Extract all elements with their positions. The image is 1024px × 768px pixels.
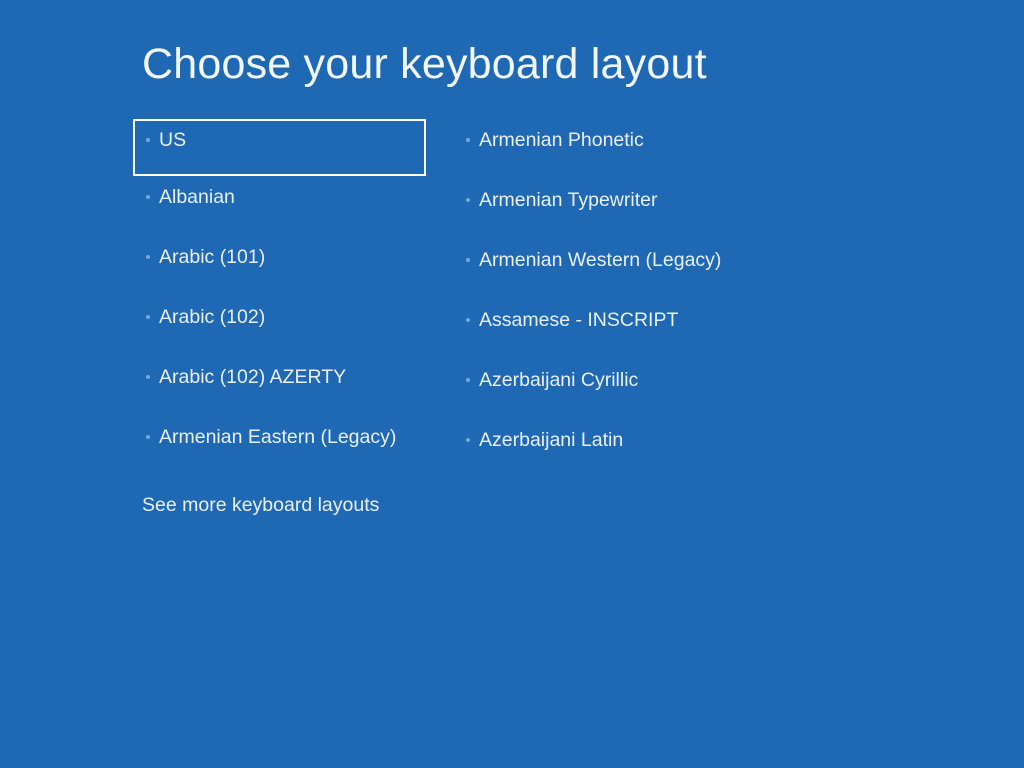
keyboard-layout-option-label: Arabic (102) (159, 304, 265, 330)
see-more-keyboard-layouts-link[interactable]: See more keyboard layouts (142, 492, 379, 518)
page-title: Choose your keyboard layout (142, 36, 707, 92)
keyboard-layout-option[interactable]: Armenian Typewriter (462, 179, 792, 239)
keyboard-layout-option[interactable]: Armenian Eastern (Legacy) (133, 416, 433, 476)
keyboard-layout-option-label: Armenian Phonetic (479, 127, 644, 153)
bullet-icon (466, 138, 470, 142)
keyboard-layout-option-label: Armenian Western (Legacy) (479, 247, 721, 273)
bullet-icon (146, 138, 150, 142)
keyboard-layout-option[interactable]: Azerbaijani Cyrillic (462, 359, 792, 419)
keyboard-layout-screen: Choose your keyboard layout USAlbanianAr… (0, 0, 1024, 768)
keyboard-layout-option[interactable]: Assamese - INSCRIPT (462, 299, 792, 359)
bullet-icon (146, 435, 150, 439)
keyboard-layout-option[interactable]: US (133, 119, 426, 176)
keyboard-layout-option[interactable]: Armenian Western (Legacy) (462, 239, 792, 299)
keyboard-layout-option[interactable]: Arabic (102) (133, 296, 433, 356)
keyboard-layout-option[interactable]: Azerbaijani Latin (462, 419, 792, 479)
bullet-icon (146, 195, 150, 199)
bullet-icon (146, 315, 150, 319)
bullet-icon (466, 258, 470, 262)
keyboard-layout-list-right: Armenian PhoneticArmenian TypewriterArme… (462, 119, 792, 479)
keyboard-layout-option[interactable]: Albanian (133, 176, 433, 236)
keyboard-layout-option-label: Arabic (101) (159, 244, 265, 270)
bullet-icon (146, 375, 150, 379)
keyboard-layout-option-label: Armenian Typewriter (479, 187, 657, 213)
keyboard-layout-option-label: US (159, 127, 186, 153)
keyboard-layout-option-label: Arabic (102) AZERTY (159, 364, 346, 390)
keyboard-layout-option-label: Armenian Eastern (Legacy) (159, 424, 396, 450)
keyboard-layout-option[interactable]: Arabic (101) (133, 236, 433, 296)
bullet-icon (146, 255, 150, 259)
keyboard-layout-option-label: Albanian (159, 184, 235, 210)
bullet-icon (466, 198, 470, 202)
keyboard-layout-option[interactable]: Armenian Phonetic (462, 119, 792, 179)
keyboard-layout-option[interactable]: Arabic (102) AZERTY (133, 356, 433, 416)
bullet-icon (466, 378, 470, 382)
keyboard-layout-list-left: USAlbanianArabic (101)Arabic (102)Arabic… (133, 119, 433, 476)
keyboard-layout-option-label: Azerbaijani Latin (479, 427, 623, 453)
bullet-icon (466, 318, 470, 322)
keyboard-layout-option-label: Assamese - INSCRIPT (479, 307, 678, 333)
bullet-icon (466, 438, 470, 442)
keyboard-layout-option-label: Azerbaijani Cyrillic (479, 367, 638, 393)
